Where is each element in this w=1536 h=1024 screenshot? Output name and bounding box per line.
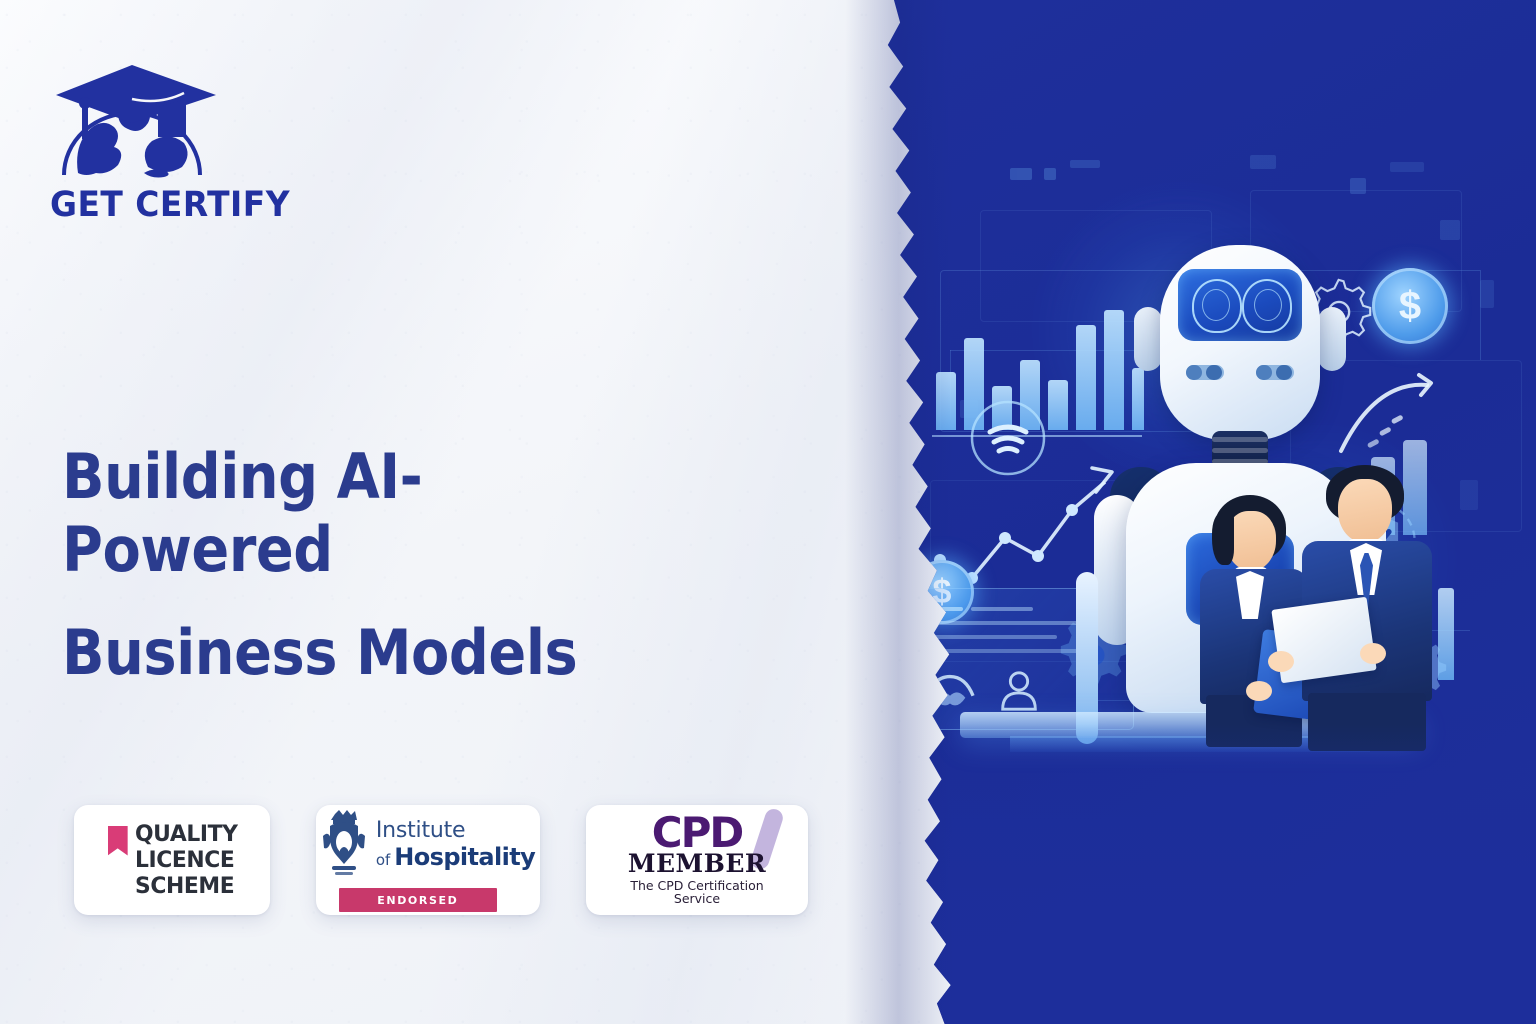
ioh-of: of [376, 851, 390, 869]
endorsed-banner: ENDORSED [339, 888, 497, 912]
accreditation-badges: QUALITY LICENCE SCHEME [74, 805, 808, 915]
cpd-line-3: The CPD Certification [586, 879, 808, 893]
logo-text: GET CERTIFY [50, 185, 290, 225]
brain-display-icon [1178, 269, 1302, 341]
title-line-1: Building AI-Powered [62, 440, 692, 586]
badge-institute-of-hospitality[interactable]: Institute of Hospitality ENDORSED [316, 805, 540, 915]
qls-line-1: QUALITY [135, 821, 238, 847]
qls-line-3: SCHEME [135, 873, 238, 899]
title-line-2: Business Models [62, 616, 692, 689]
cpd-line-4: Service [586, 892, 808, 906]
qls-line-2: LICENCE [135, 847, 238, 873]
badge-cpd-member[interactable]: CPD MEMBER The CPD Certification Service [586, 805, 808, 915]
endorsed-label: ENDORSED [377, 894, 458, 907]
graduation-cap-globe-icon [48, 55, 248, 190]
robot-head [1160, 245, 1320, 440]
cpd-line-1: CPD [586, 814, 808, 853]
ioh-line-2: Hospitality [394, 843, 535, 871]
ioh-line-1: Institute [376, 819, 535, 842]
bookmark-ribbon-icon [108, 826, 128, 856]
cpd-line-2: MEMBER [586, 851, 808, 876]
logo[interactable]: GET CERTIFY [48, 55, 248, 230]
heraldic-crest-icon [321, 808, 367, 882]
businessman-figure [1290, 465, 1460, 750]
badge-quality-licence-scheme[interactable]: QUALITY LICENCE SCHEME [74, 805, 270, 915]
user-profile-icon [995, 667, 1043, 715]
ai-illustration: $ $ [880, 0, 1536, 1024]
page-title: Building AI-Powered Business Models [62, 440, 692, 719]
hero-banner: $ $ [0, 0, 1536, 1024]
scene-fade-overlay [880, 724, 1536, 1024]
wifi-signal-icon [968, 398, 1048, 478]
